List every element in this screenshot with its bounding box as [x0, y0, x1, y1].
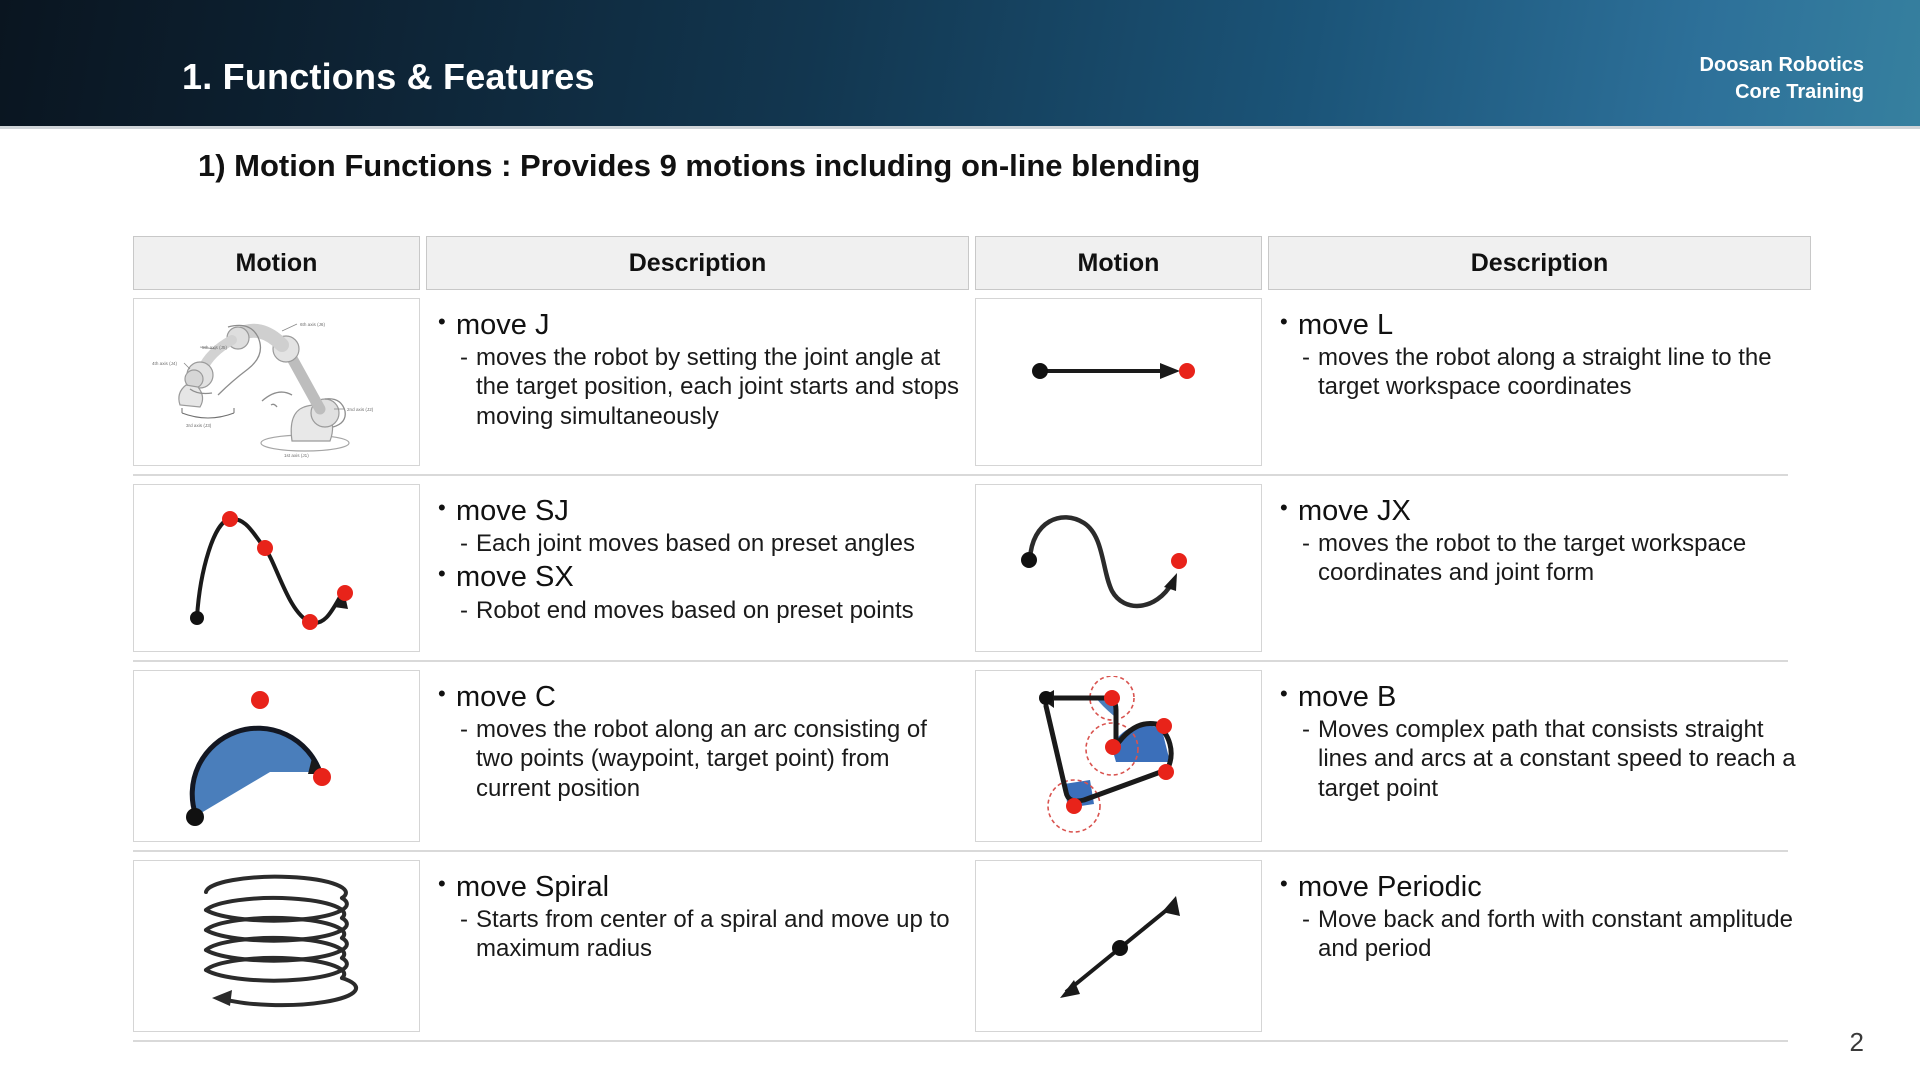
motion-detail-text: Move back and forth with constant amplit… [1318, 905, 1805, 964]
motion-detail-text: Robot end moves based on preset points [476, 596, 914, 625]
motion-label: move SX [456, 560, 574, 594]
list-item: • move JX - moves the robot to the targe… [1280, 494, 1805, 588]
list-item: • move C - moves the robot along an arc … [438, 680, 963, 803]
dash-icon: - [460, 715, 476, 744]
section-subtitle: 1) Motion Functions : Provides 9 motions… [198, 148, 1200, 184]
svg-text:2nd axis (J2): 2nd axis (J2) [347, 407, 374, 412]
target-point-dot [1179, 363, 1195, 379]
column-header-motion-left: Motion [133, 236, 420, 290]
figure-cell-move-jx [975, 484, 1262, 652]
description-cell-move-b: • move B - Moves complex path that consi… [1268, 670, 1811, 842]
row-divider [133, 474, 1788, 476]
motion-detail-text: moves the robot to the target workspace … [1318, 529, 1805, 588]
straight-line-arrow-figure [984, 305, 1254, 460]
motion-detail: - moves the robot along a straight line … [1302, 343, 1805, 402]
motion-detail: - Robot end moves based on preset points [460, 596, 963, 625]
list-item: • move SJ - Each joint moves based on pr… [438, 494, 963, 558]
motion-detail: - Move back and forth with constant ampl… [1302, 905, 1805, 964]
motion-name: • move SJ [438, 494, 963, 528]
center-point-dot [1112, 940, 1128, 956]
motion-name: • move Spiral [438, 870, 963, 904]
description-cell-move-sj-sx: • move SJ - Each joint moves based on pr… [426, 484, 969, 652]
motion-label: move Spiral [456, 870, 609, 904]
start-point-dot [1032, 363, 1048, 379]
dash-icon: - [1302, 715, 1318, 744]
motion-detail: - moves the robot by setting the joint a… [460, 343, 963, 431]
bullet-icon: • [1280, 870, 1298, 899]
motion-detail: - Starts from center of a spiral and mov… [460, 905, 963, 964]
svg-text:6th axis (J6): 6th axis (J6) [300, 322, 325, 327]
bullet-icon: • [1280, 308, 1298, 337]
spiral-helix-figure [142, 866, 412, 1026]
list-item: • move Periodic - Move back and forth wi… [1280, 870, 1805, 964]
dash-icon: - [1302, 905, 1318, 934]
row-divider-bottom [133, 1040, 1788, 1042]
table-row: • move Spiral - Starts from center of a … [133, 860, 1788, 1032]
brand-line-1: Doosan Robotics [1700, 52, 1864, 79]
bullet-icon: • [438, 560, 456, 589]
page-number: 2 [1850, 1027, 1864, 1058]
motion-detail: - Moves complex path that consists strai… [1302, 715, 1805, 803]
spline-waypoints-figure [142, 491, 412, 646]
motion-label: move J [456, 308, 549, 342]
figure-cell-move-l [975, 298, 1262, 466]
bullet-icon: • [1280, 680, 1298, 709]
dash-icon: - [460, 905, 476, 934]
slide: 1. Functions & Features Doosan Robotics … [0, 0, 1920, 1080]
waypoint-dot [251, 691, 269, 709]
motion-name: • move J [438, 308, 963, 342]
row-divider [133, 660, 1788, 662]
list-item: • move J - moves the robot by setting th… [438, 308, 963, 431]
start-point-dot [1021, 552, 1037, 568]
dash-icon: - [1302, 343, 1318, 372]
motion-detail-text: moves the robot along an arc consisting … [476, 715, 963, 803]
table-row: 6th axis (J6) 5th axis (J5) 4th axis (J4… [133, 298, 1788, 466]
column-header-description-left: Description [426, 236, 969, 290]
waypoint-dot [1105, 739, 1121, 755]
dash-icon: - [1302, 529, 1318, 558]
list-item: • move B - Moves complex path that consi… [1280, 680, 1805, 803]
waypoint-dot [1104, 690, 1120, 706]
dash-icon: - [460, 343, 476, 372]
motion-label: move SJ [456, 494, 569, 528]
description-cell-move-jx: • move JX - moves the robot to the targe… [1268, 484, 1811, 652]
column-header-motion-right: Motion [975, 236, 1262, 290]
motion-detail-text: moves the robot along a straight line to… [1318, 343, 1805, 402]
waypoint-dot [1066, 798, 1082, 814]
motion-name: • move B [1280, 680, 1805, 714]
circular-arc-sector-figure [142, 676, 412, 836]
waypoint-dot [257, 540, 273, 556]
svg-text:1st axis (J1): 1st axis (J1) [284, 453, 309, 458]
description-cell-move-spiral: • move Spiral - Starts from center of a … [426, 860, 969, 1032]
waypoint-dot [222, 511, 238, 527]
header-divider [0, 126, 1920, 129]
figure-cell-move-periodic [975, 860, 1262, 1032]
motion-name: • move SX [438, 560, 963, 594]
motion-detail: - Each joint moves based on preset angle… [460, 529, 963, 558]
table-row: • move C - moves the robot along an arc … [133, 670, 1788, 842]
motion-detail-text: Starts from center of a spiral and move … [476, 905, 963, 964]
motion-detail: - moves the robot along an arc consistin… [460, 715, 963, 803]
start-point-dot [186, 808, 204, 826]
motion-name: • move C [438, 680, 963, 714]
start-point-dot [190, 611, 204, 625]
bullet-icon: • [438, 870, 456, 899]
motion-detail-text: Each joint moves based on preset angles [476, 529, 915, 558]
page-title: 1. Functions & Features [182, 56, 595, 98]
motion-detail-text: moves the robot by setting the joint ang… [476, 343, 963, 431]
target-point-dot [1158, 764, 1174, 780]
target-point-dot [337, 585, 353, 601]
bullet-icon: • [1280, 494, 1298, 523]
list-item: • move SX - Robot end moves based on pre… [438, 560, 963, 624]
row-divider [133, 850, 1788, 852]
motion-label: move L [1298, 308, 1393, 342]
brand-line-2: Core Training [1700, 79, 1864, 106]
figure-cell-move-sj [133, 484, 420, 652]
bullet-icon: • [438, 308, 456, 337]
motion-label: move B [1298, 680, 1396, 714]
description-cell-move-l: • move L - moves the robot along a strai… [1268, 298, 1811, 466]
description-cell-move-c: • move C - moves the robot along an arc … [426, 670, 969, 842]
target-point-dot [313, 768, 331, 786]
table-header-row: Motion Description Motion Description [133, 236, 1788, 290]
motion-name: • move JX [1280, 494, 1805, 528]
description-cell-move-periodic: • move Periodic - Move back and forth wi… [1268, 860, 1811, 1032]
bullet-icon: • [438, 494, 456, 523]
figure-cell-move-spiral [133, 860, 420, 1032]
list-item: • move Spiral - Starts from center of a … [438, 870, 963, 964]
slide-header: 1. Functions & Features Doosan Robotics … [0, 0, 1920, 126]
description-cell-move-j: • move J - moves the robot by setting th… [426, 298, 969, 466]
waypoint-dot [302, 614, 318, 630]
start-point-dot [1039, 691, 1053, 705]
motion-table: Motion Description Motion Description [133, 236, 1788, 1042]
motion-detail-text: Moves complex path that consists straigh… [1318, 715, 1805, 803]
motion-detail: - moves the robot to the target workspac… [1302, 529, 1805, 588]
list-item: • move L - moves the robot along a strai… [1280, 308, 1805, 402]
motion-label: move C [456, 680, 556, 714]
table-row: • move SJ - Each joint moves based on pr… [133, 484, 1788, 652]
waypoint-dot [1156, 718, 1172, 734]
robot-arm-axes-figure: 6th axis (J6) 5th axis (J5) 4th axis (J4… [142, 305, 412, 460]
dash-icon: - [460, 596, 476, 625]
motion-name: • move Periodic [1280, 870, 1805, 904]
motion-label: move Periodic [1298, 870, 1482, 904]
bullet-icon: • [438, 680, 456, 709]
blended-path-figure [984, 676, 1254, 836]
figure-cell-move-c [133, 670, 420, 842]
column-header-description-right: Description [1268, 236, 1811, 290]
motion-label: move JX [1298, 494, 1411, 528]
s-curve-figure [984, 491, 1254, 646]
figure-cell-move-j: 6th axis (J6) 5th axis (J5) 4th axis (J4… [133, 298, 420, 466]
double-arrow-figure [984, 866, 1254, 1026]
motion-name: • move L [1280, 308, 1805, 342]
brand-block: Doosan Robotics Core Training [1700, 52, 1864, 106]
figure-cell-move-b [975, 670, 1262, 842]
target-point-dot [1171, 553, 1187, 569]
svg-text:3rd axis (J3): 3rd axis (J3) [186, 423, 212, 428]
dash-icon: - [460, 529, 476, 558]
svg-text:4th axis (J4): 4th axis (J4) [152, 361, 177, 366]
